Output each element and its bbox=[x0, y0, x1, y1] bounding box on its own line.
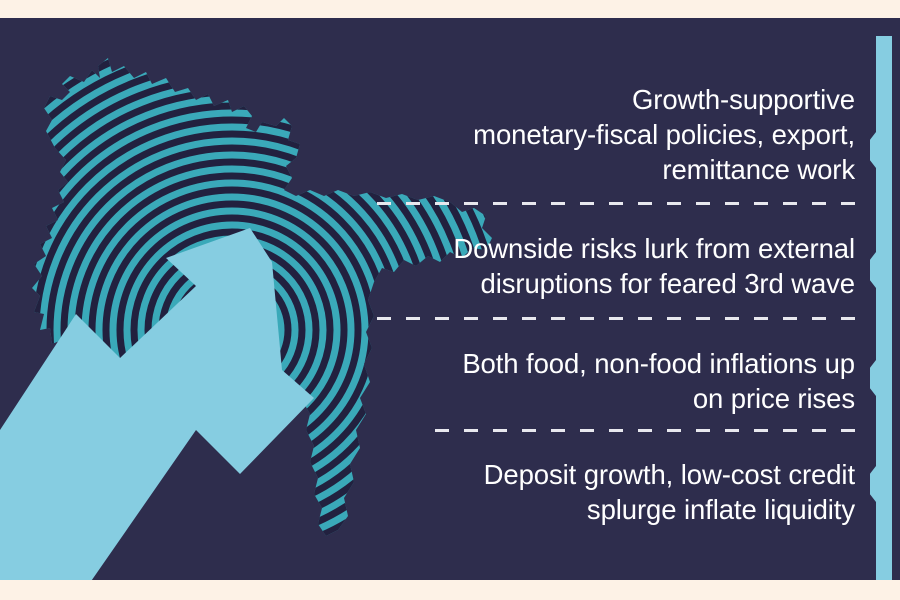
right-accent-bar bbox=[870, 36, 892, 580]
points-list: Growth-supportive monetary-fiscal polici… bbox=[370, 36, 855, 580]
point-4-text: Deposit growth, low-cost credit splurge … bbox=[370, 457, 855, 527]
point-2-text: Downside risks lurk from external disrup… bbox=[370, 231, 855, 301]
marker-triangle-1 bbox=[870, 132, 876, 168]
navy-panel: Growth-supportive monetary-fiscal polici… bbox=[0, 18, 900, 580]
divider-1 bbox=[377, 202, 855, 205]
point-3-text: Both food, non-food inflations up on pri… bbox=[370, 346, 855, 416]
infographic-canvas: Growth-supportive monetary-fiscal polici… bbox=[0, 0, 900, 600]
marker-triangle-3 bbox=[870, 360, 876, 396]
divider-2 bbox=[377, 317, 855, 320]
marker-triangle-2 bbox=[870, 252, 876, 288]
divider-3 bbox=[435, 429, 855, 432]
marker-triangle-4 bbox=[870, 466, 876, 502]
point-1-text: Growth-supportive monetary-fiscal polici… bbox=[370, 82, 855, 187]
